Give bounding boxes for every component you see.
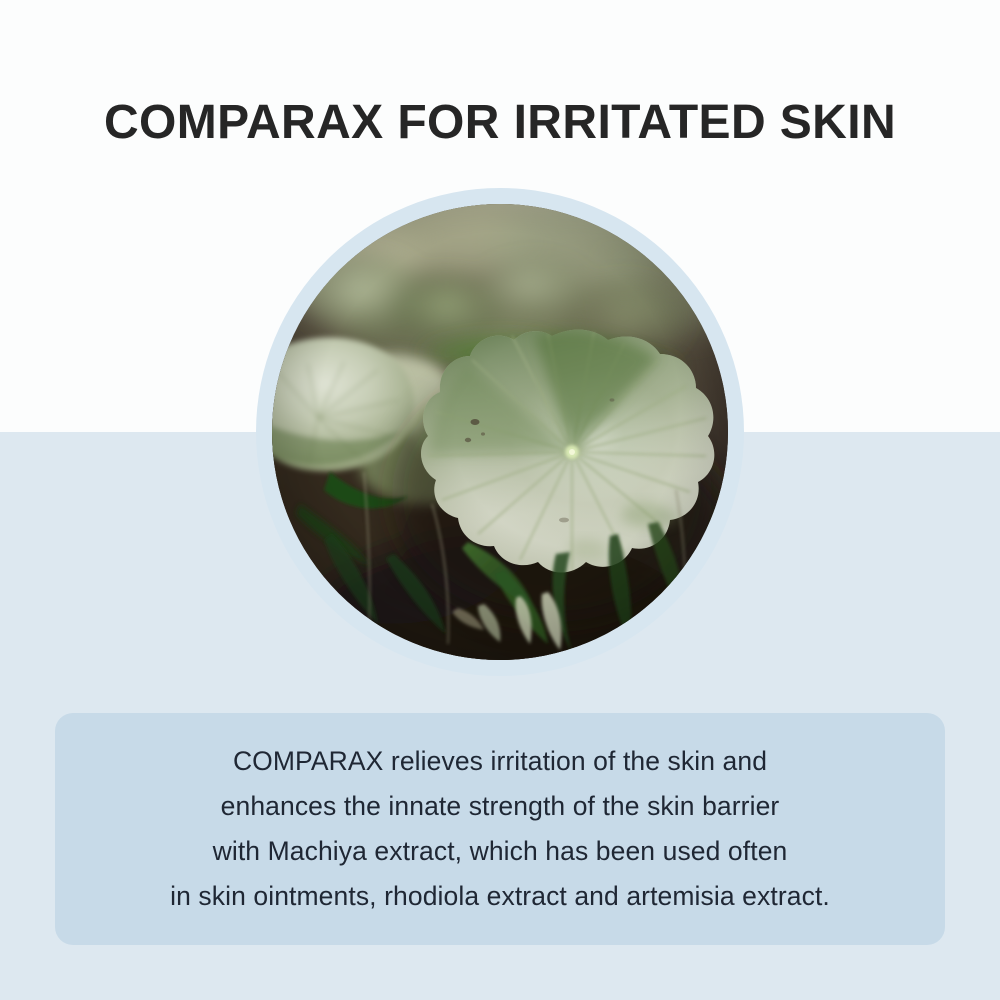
hero-image-circle	[272, 204, 728, 660]
poster-canvas: COMPARAX FOR IRRITATED SKIN	[0, 0, 1000, 1000]
pennywort-leaf-photo-illustration	[272, 204, 728, 660]
page-title: COMPARAX FOR IRRITATED SKIN	[0, 94, 1000, 152]
description-text: COMPARAX relieves irritation of the skin…	[55, 739, 945, 919]
description-card: COMPARAX relieves irritation of the skin…	[55, 713, 945, 945]
